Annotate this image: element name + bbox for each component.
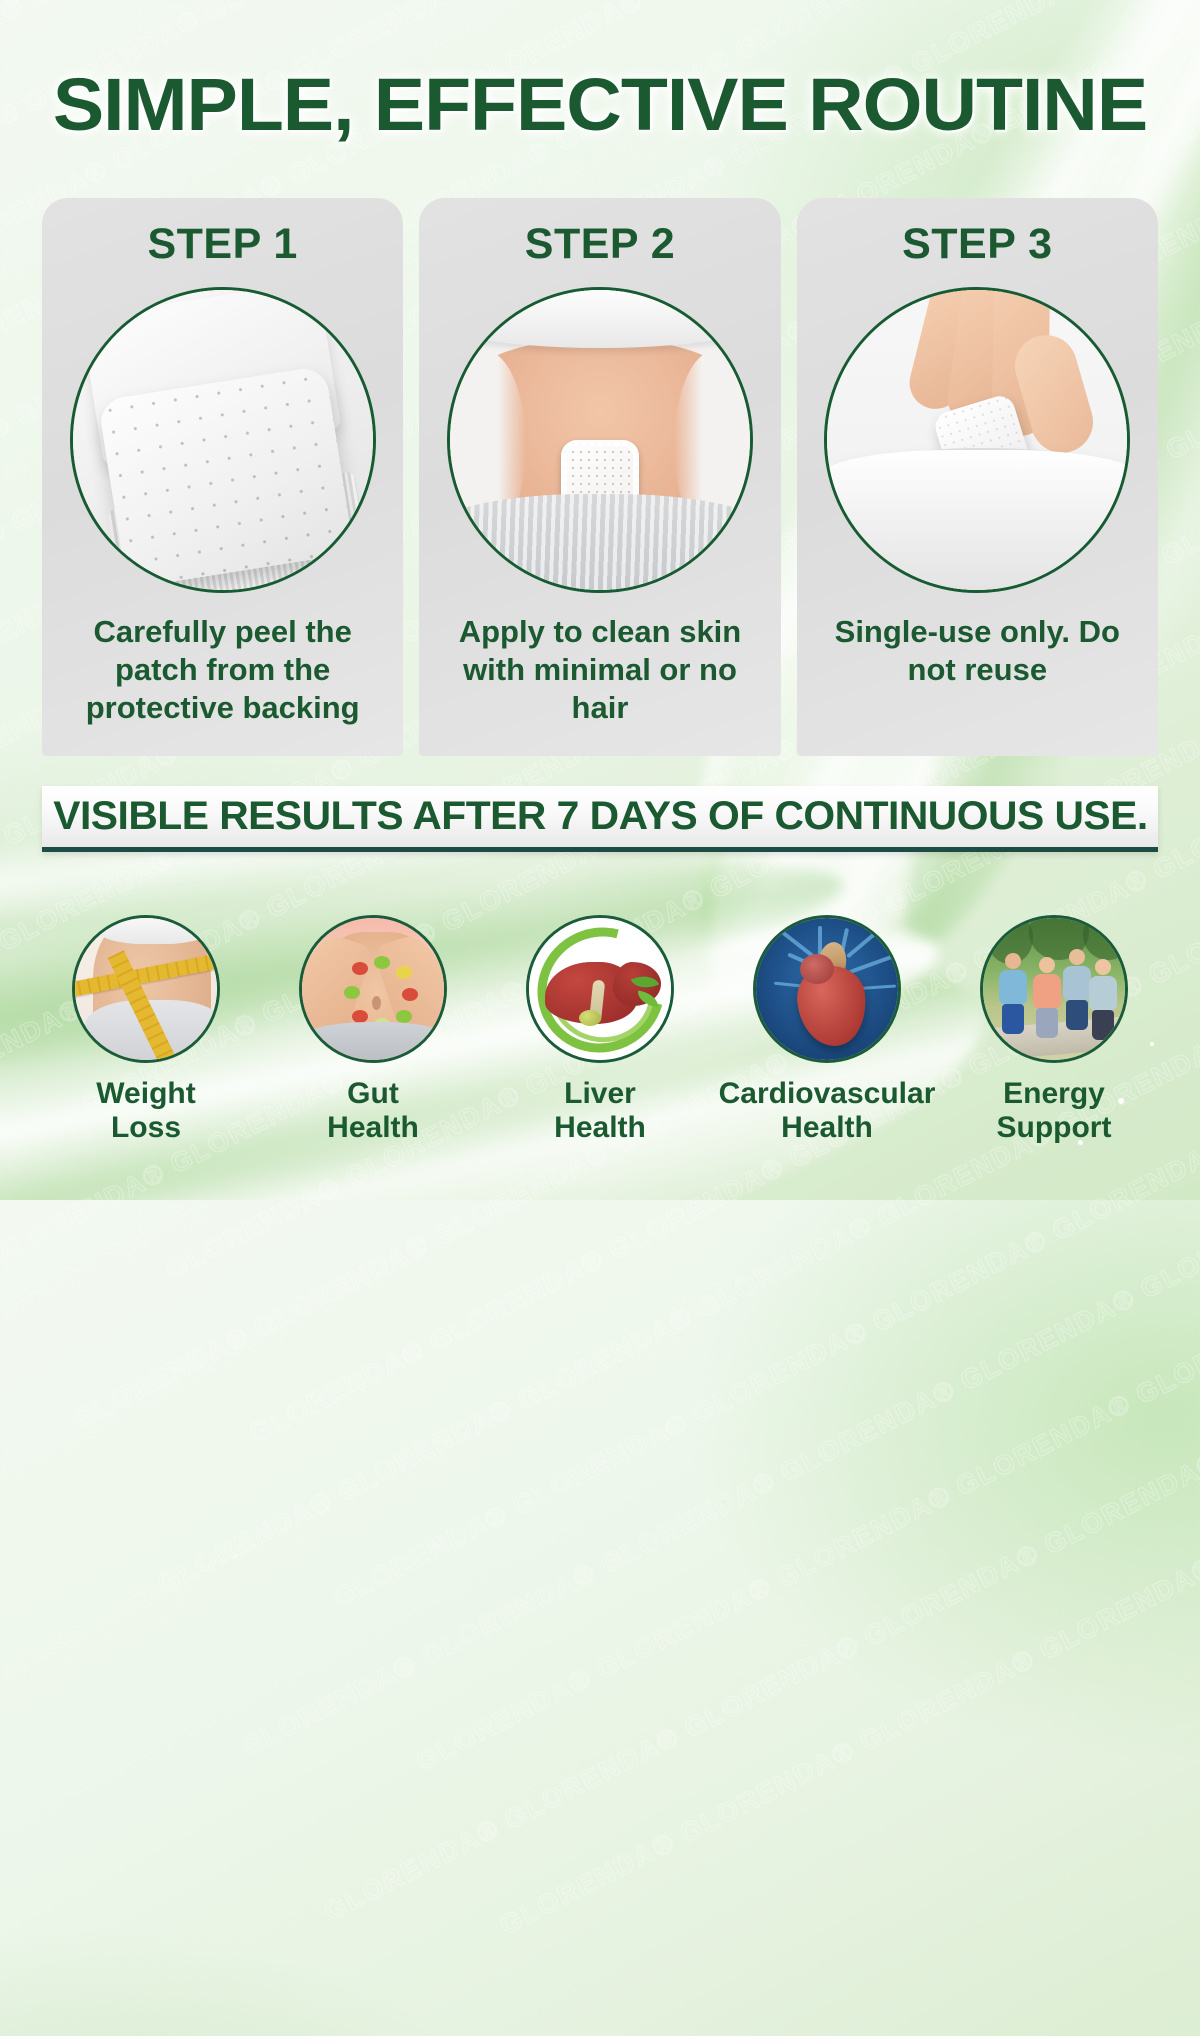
benefit-label-line1: Cardiovascular <box>719 1077 936 1111</box>
step-card-2: STEP 2 Apply to clean skin with minimal … <box>419 198 780 756</box>
benefit-label-line1: Gut <box>327 1077 419 1111</box>
step-caption-2: Apply to clean skin with minimal or no h… <box>437 613 762 726</box>
benefit-label-line1: Liver <box>554 1077 646 1111</box>
benefit-label-line2: Loss <box>96 1111 195 1145</box>
benefit-label-line2: Support <box>997 1111 1112 1145</box>
benefit-cardiovascular-health: Cardiovascular Health <box>721 915 933 1145</box>
step-heading-1: STEP 1 <box>147 220 297 269</box>
step-image-2 <box>447 287 753 593</box>
benefit-label-weight-loss: Weight Loss <box>96 1077 195 1145</box>
benefit-label-line2: Health <box>327 1111 419 1145</box>
page-title: SIMPLE, EFFECTIVE ROUTINE <box>0 62 1200 147</box>
benefit-weight-loss: Weight Loss <box>40 915 252 1145</box>
benefit-label-gut-health: Gut Health <box>327 1077 419 1145</box>
benefit-label-line2: Health <box>719 1111 936 1145</box>
cardiovascular-health-icon <box>753 915 901 1063</box>
benefit-label-line2: Health <box>554 1111 646 1145</box>
benefit-label-cardiovascular-health: Cardiovascular Health <box>719 1077 936 1145</box>
infographic-page: SIMPLE, EFFECTIVE ROUTINE STEP 1 Careful… <box>0 0 1200 1200</box>
benefit-label-line1: Energy <box>997 1077 1112 1111</box>
step-heading-3: STEP 3 <box>902 220 1052 269</box>
results-banner: VISIBLE RESULTS AFTER 7 DAYS OF CONTINUO… <box>42 786 1158 852</box>
liver-health-icon <box>526 915 674 1063</box>
step-card-3: STEP 3 Single-use only. Do not reuse <box>797 198 1158 756</box>
benefit-gut-health: Gut Health <box>267 915 479 1145</box>
benefit-label-energy-support: Energy Support <box>997 1077 1112 1145</box>
gut-health-icon <box>299 915 447 1063</box>
step-image-3 <box>824 287 1130 593</box>
results-banner-text: VISIBLE RESULTS AFTER 7 DAYS OF CONTINUO… <box>53 794 1147 839</box>
benefits-row: Weight Loss <box>40 915 1160 1145</box>
benefit-liver-health: Liver Health <box>494 915 706 1145</box>
benefit-label-liver-health: Liver Health <box>554 1077 646 1145</box>
weight-loss-icon <box>72 915 220 1063</box>
steps-row: STEP 1 Carefully peel the patch from the… <box>42 198 1158 756</box>
step-card-1: STEP 1 Carefully peel the patch from the… <box>42 198 403 756</box>
benefit-label-line1: Weight <box>96 1077 195 1111</box>
step-caption-1: Carefully peel the patch from the protec… <box>60 613 385 726</box>
energy-support-icon <box>980 915 1128 1063</box>
benefit-energy-support: Energy Support <box>948 915 1160 1145</box>
step-image-1 <box>70 287 376 593</box>
step-caption-3: Single-use only. Do not reuse <box>815 613 1140 689</box>
step-heading-2: STEP 2 <box>525 220 675 269</box>
